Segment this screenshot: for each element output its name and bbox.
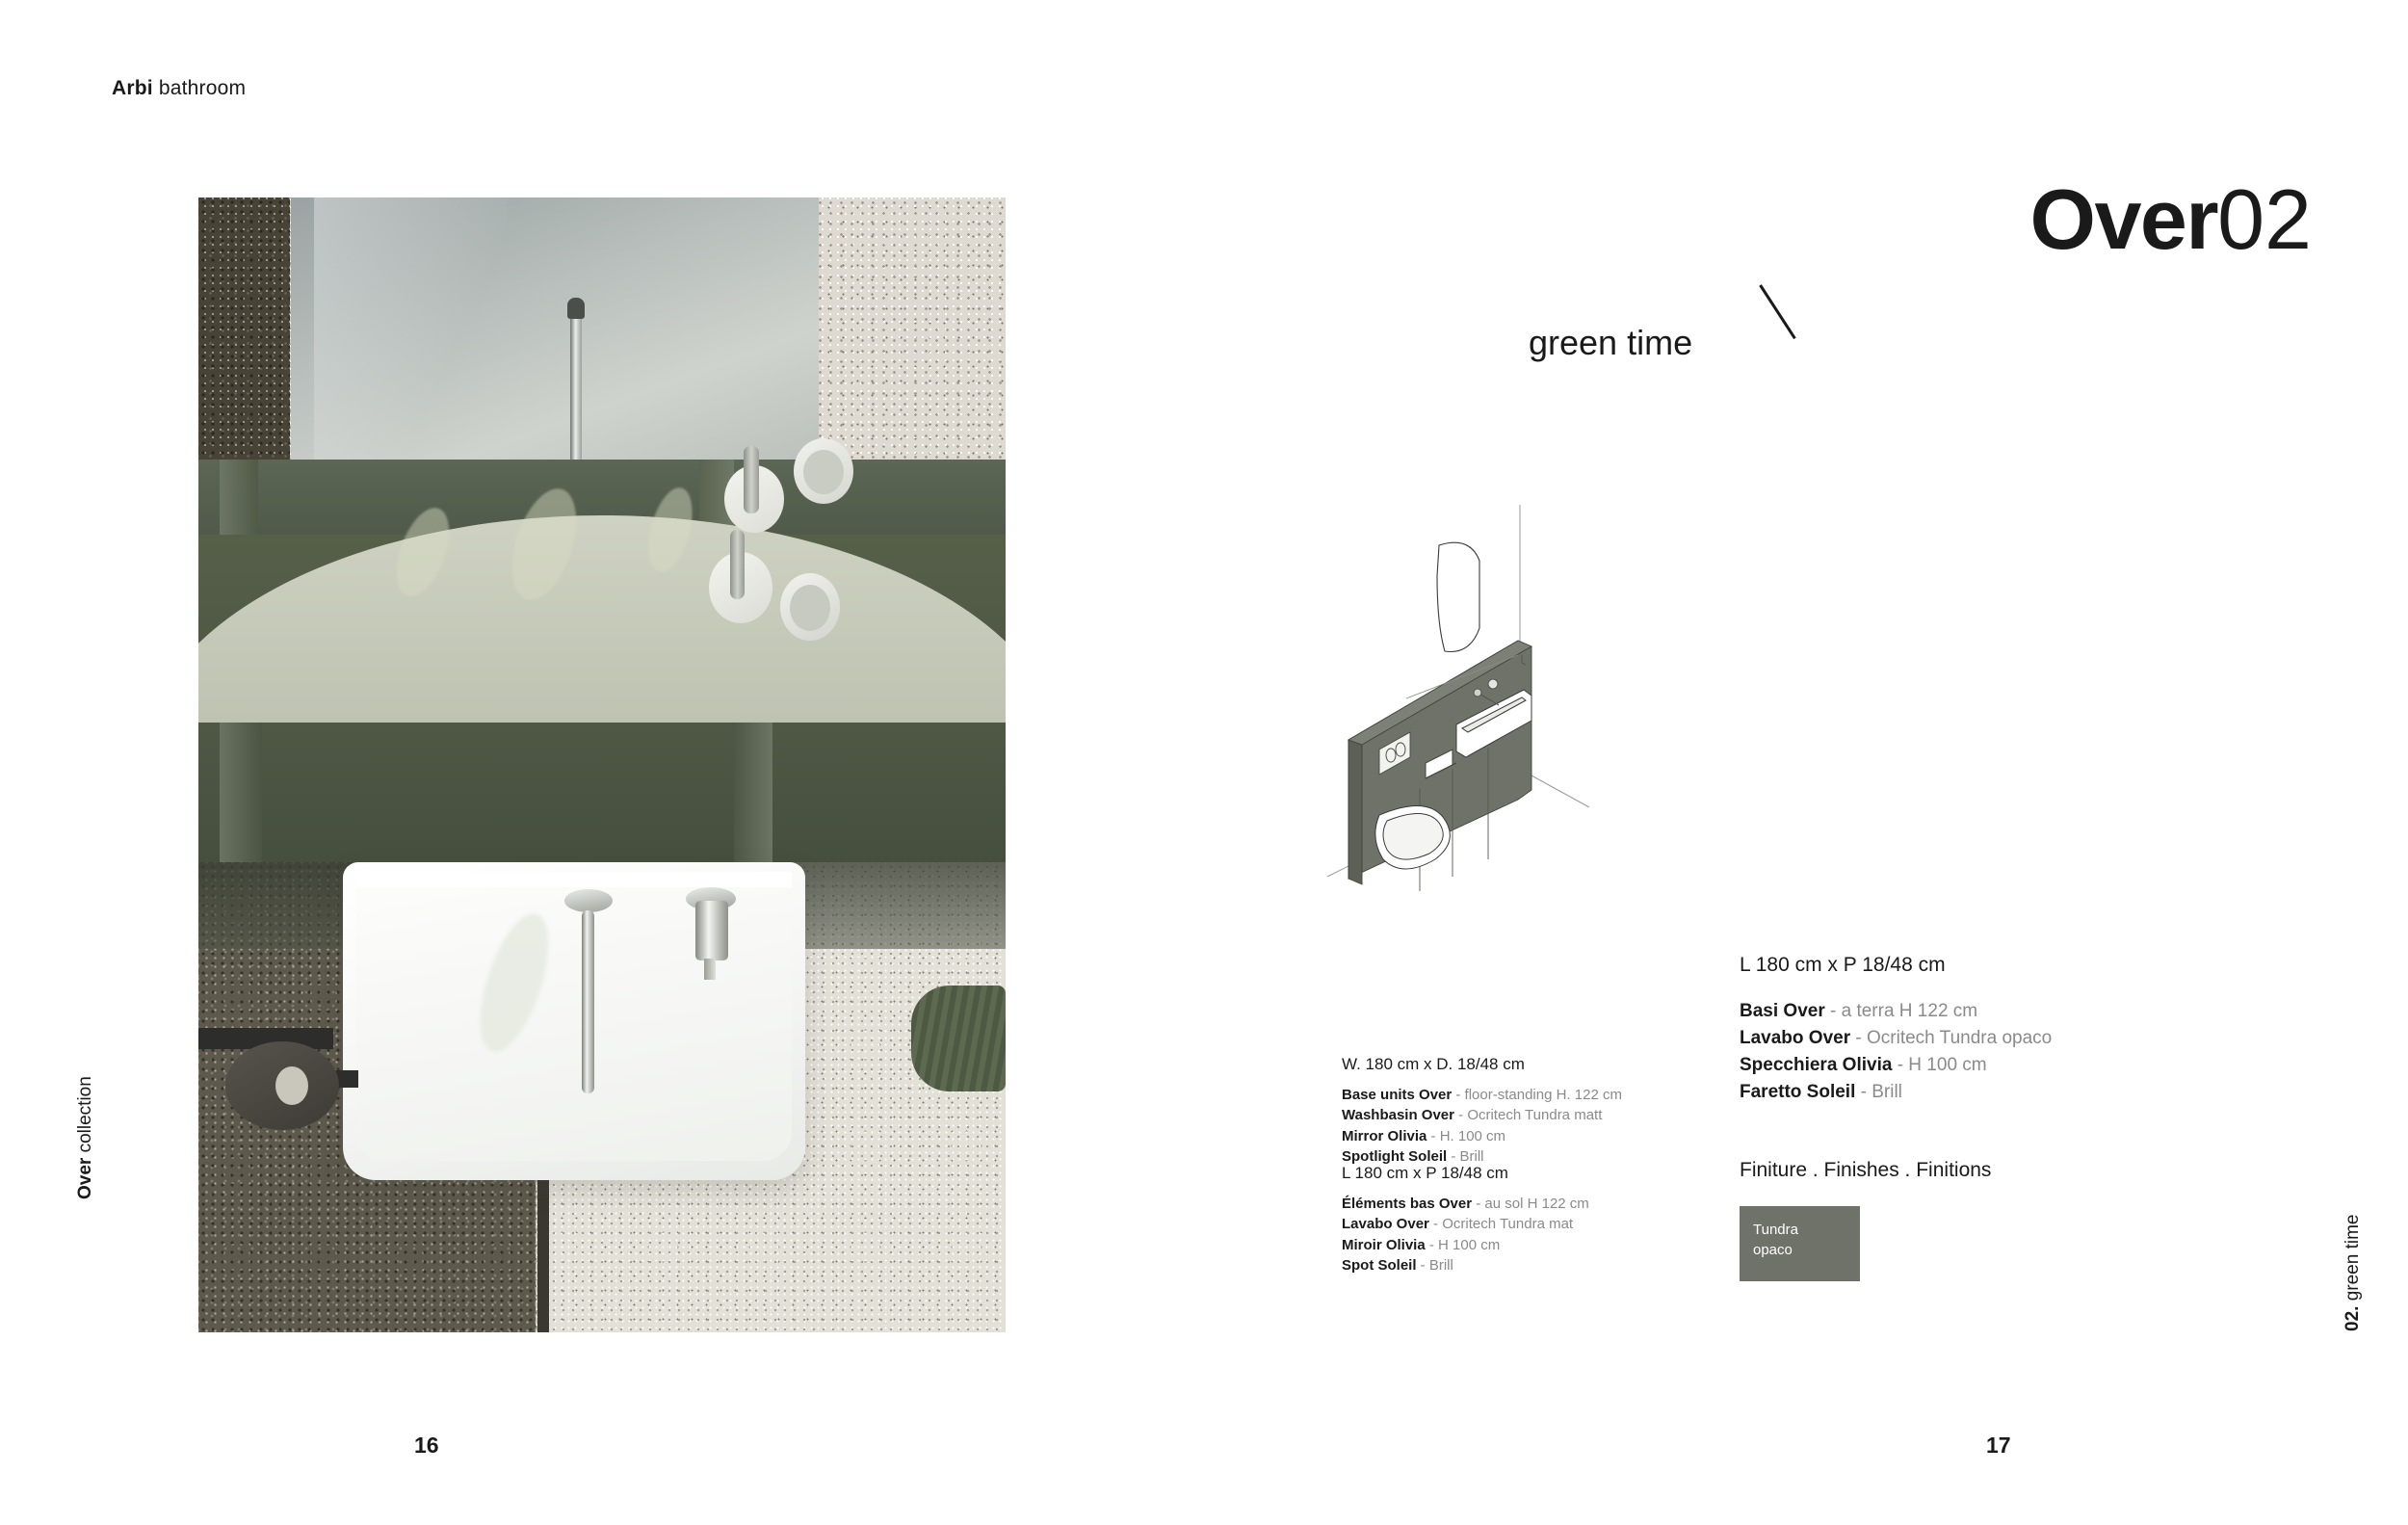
cup-interior <box>803 450 844 494</box>
spec-name: Spotlight Soleil <box>1342 1148 1447 1165</box>
spec-line: Éléments bas Over - au sol H 122 cm <box>1342 1194 1660 1214</box>
isometric-drawing-svg <box>1291 501 1618 906</box>
spec-line: Washbasin Over - Ocritech Tundra matt <box>1342 1105 1660 1125</box>
spec-name: Lavabo Over <box>1342 1216 1429 1232</box>
reflected-tap-spout <box>567 298 585 319</box>
spec-line: Specchiera Olivia - H 100 cm <box>1740 1052 2144 1079</box>
sidebar-label-bold: Over <box>75 1158 95 1199</box>
spec-line: Spot Soleil - Brill <box>1342 1255 1660 1275</box>
page-subtitle: green time <box>1529 323 1692 363</box>
spec-name: Lavabo Over <box>1740 1028 1850 1048</box>
soap-dispenser <box>744 446 759 513</box>
sidebar-label-collection: Over collection <box>75 1076 96 1199</box>
brand-name: Arbi <box>112 77 153 99</box>
spec-line: Base units Over - floor-standing H. 122 … <box>1342 1085 1660 1105</box>
mixer-valve <box>695 901 728 960</box>
dimension-label: L 180 cm x P 18/48 cm <box>1740 954 2144 977</box>
vanity-bevel-right-2 <box>734 723 772 877</box>
sidebar-label-chapter: 02. green time <box>2343 1215 2364 1331</box>
spec-desc: - H. 100 cm <box>1426 1128 1505 1144</box>
finish-swatch-tundra[interactable]: Tundra opaco <box>1740 1206 1860 1281</box>
tap-spout <box>582 910 594 1093</box>
configuration-diagram <box>1291 501 1618 906</box>
spec-desc: - Brill <box>1417 1257 1453 1274</box>
title-number: 02 <box>2217 171 2312 267</box>
spec-name: Basi Over <box>1740 1001 1825 1021</box>
page-number-left: 16 <box>414 1433 439 1459</box>
spec-desc: - Ocritech Tundra opaco <box>1850 1028 2052 1048</box>
spec-line: Lavabo Over - Ocritech Tundra mat <box>1342 1214 1660 1234</box>
swatch-name: Tundra <box>1753 1220 1798 1240</box>
spec-block-english: W. 180 cm x D. 18/48 cm Base units Over … <box>1342 1055 1660 1167</box>
soap-dispenser <box>730 530 745 599</box>
vanity-bevel-left-2 <box>220 723 262 877</box>
sidebar-label-rest: green time <box>2343 1215 2363 1306</box>
spec-desc: - H 100 cm <box>1892 1055 1986 1075</box>
spec-desc: - H 100 cm <box>1426 1237 1501 1253</box>
washbasin-rim <box>356 872 792 887</box>
spec-block-italian: L 180 cm x P 18/48 cm Basi Over - a terr… <box>1740 954 2144 1106</box>
spec-block-french: L 180 cm x P 18/48 cm Éléments bas Over … <box>1342 1164 1660 1275</box>
spec-line: Basi Over - a terra H 122 cm <box>1740 998 2144 1025</box>
catalog-spread: Arbi bathroom <box>0 0 2408 1525</box>
toilet-roll-core <box>275 1066 308 1105</box>
spec-desc: - Ocritech Tundra mat <box>1429 1216 1573 1232</box>
spec-desc: - Brill <box>1447 1148 1483 1165</box>
page-title: Over02 <box>2030 177 2312 262</box>
sidebar-label-rest: collection <box>75 1076 95 1158</box>
spec-line: Lavabo Over - Ocritech Tundra opaco <box>1740 1025 2144 1052</box>
product-photo <box>198 197 1006 1332</box>
tap-wall-plate <box>564 889 613 912</box>
spec-name: Washbasin Over <box>1342 1107 1454 1123</box>
vanity-lower-band <box>198 723 1006 877</box>
spec-name: Base units Over <box>1342 1087 1452 1103</box>
spec-line: Faretto Soleil - Brill <box>1740 1079 2144 1106</box>
spec-name: Specchiera Olivia <box>1740 1055 1892 1075</box>
spec-name: Mirror Olivia <box>1342 1128 1426 1144</box>
brand-logo: Arbi bathroom <box>112 77 246 100</box>
reflected-tap <box>570 302 582 460</box>
swatch-sub: opaco <box>1753 1240 1798 1260</box>
finishes-title: Finiture . Finishes . Finitions <box>1740 1159 1991 1182</box>
spec-name: Éléments bas Over <box>1342 1196 1472 1212</box>
dimension-label: L 180 cm x P 18/48 cm <box>1342 1164 1660 1183</box>
mixer-lever <box>704 959 716 980</box>
spec-desc: - a terra H 122 cm <box>1825 1001 1977 1021</box>
diagonal-slash-icon <box>1759 284 1795 339</box>
spec-desc: - floor-standing H. 122 cm <box>1452 1087 1622 1103</box>
page-number-right: 17 <box>1986 1433 2011 1459</box>
title-name: Over <box>2030 171 2218 267</box>
spec-desc: - Brill <box>1855 1082 1902 1102</box>
spec-desc: - au sol H 122 cm <box>1472 1196 1589 1212</box>
spec-name: Faretto Soleil <box>1740 1082 1855 1102</box>
dimension-label: W. 180 cm x D. 18/48 cm <box>1342 1055 1660 1074</box>
brand-suffix: bathroom <box>153 77 246 99</box>
spec-name: Miroir Olivia <box>1342 1237 1426 1253</box>
spec-name: Spot Soleil <box>1342 1257 1417 1274</box>
cup-interior <box>790 585 830 631</box>
green-towel <box>911 986 1006 1091</box>
spec-desc: - Ocritech Tundra matt <box>1454 1107 1602 1123</box>
spec-line: Miroir Olivia - H 100 cm <box>1342 1235 1660 1255</box>
swatch-label: Tundra opaco <box>1753 1220 1798 1261</box>
spec-line: Mirror Olivia - H. 100 cm <box>1342 1126 1660 1146</box>
sidebar-label-bold: 02. <box>2343 1306 2363 1331</box>
